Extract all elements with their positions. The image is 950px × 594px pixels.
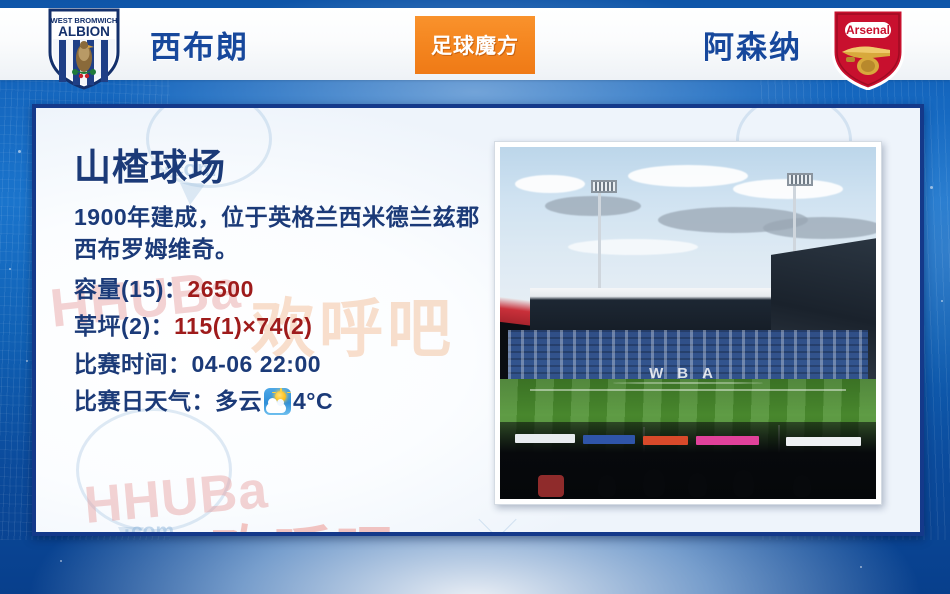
watermark-text: HHUBa: [82, 460, 271, 532]
match-header: WEST BROMWICH ALBION 西布朗 足球魔方 阿森纳: [0, 0, 950, 88]
stadium-description: 1900年建成，位于英格兰西米德兰兹郡西布罗姆维奇。: [74, 201, 494, 266]
stat-capacity: 容量(15)： 26500: [74, 271, 494, 308]
stat-weather-condition: 多云: [215, 383, 262, 420]
stat-pitch: 草坪(2)： 115(1)×74(2): [74, 308, 494, 345]
stat-match-time-label: 比赛时间：: [74, 346, 192, 383]
stat-weather-label: 比赛日天气：: [74, 383, 215, 420]
stat-weather-temperature: 4°C: [293, 383, 333, 420]
stadium-photo-image: WBA: [500, 147, 876, 499]
stat-weather: 比赛日天气： 多云 4°C: [74, 383, 494, 420]
svg-text:Arsenal: Arsenal: [846, 23, 890, 37]
content-frame: HHUBa ·com HUan HUBa ·com 欢呼吧 欢呼吧 HHUBa …: [32, 104, 924, 536]
stat-pitch-label: 草坪(2)：: [74, 308, 174, 345]
watermark-text: 欢呼吧: [211, 506, 397, 532]
site-logo[interactable]: 足球魔方: [415, 16, 535, 74]
stat-capacity-label: 容量(15)：: [74, 271, 187, 308]
watermark-bubble: [76, 408, 232, 532]
stadium-info-card: WEST BROMWICH ALBION 西布朗 足球魔方 阿森纳: [0, 0, 950, 594]
watermark-text: ·com: [124, 520, 174, 532]
away-team-name: 阿森纳: [703, 22, 802, 67]
arsenal-crest: Arsenal: [828, 6, 908, 88]
stadium-info: 山楂球场 1900年建成，位于英格兰西米德兰兹郡西布罗姆维奇。 容量(15)： …: [74, 148, 494, 420]
stat-capacity-value: 26500: [187, 271, 253, 308]
home-team-name: 西布朗: [150, 22, 249, 67]
stadium-photo: WBA: [494, 141, 882, 505]
content-panel: HHUBa ·com HUan HUBa ·com 欢呼吧 欢呼吧 HHUBa …: [36, 108, 920, 532]
west-bromwich-albion-crest: WEST BROMWICH ALBION: [44, 6, 124, 88]
partly-cloudy-icon: [264, 388, 291, 415]
panel-notch: [478, 500, 516, 532]
stat-match-time-value: 04-06 22:00: [192, 346, 322, 383]
stat-match-time: 比赛时间： 04-06 22:00: [74, 346, 494, 383]
stat-pitch-value: 115(1)×74(2): [174, 308, 312, 345]
site-logo-text: 足球魔方: [431, 30, 519, 60]
stadium-title: 山楂球场: [74, 148, 494, 189]
svg-text:ALBION: ALBION: [58, 24, 110, 39]
